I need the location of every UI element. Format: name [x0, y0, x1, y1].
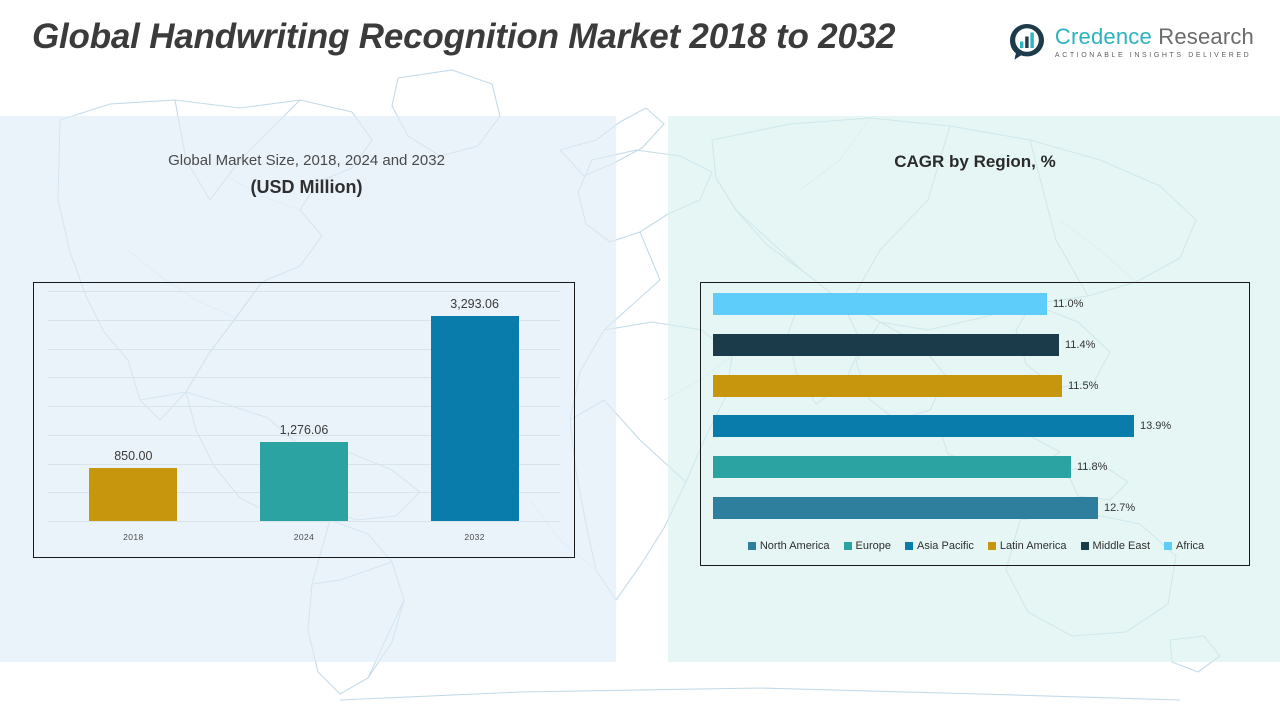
- bar-value-label: 11.8%: [1077, 461, 1107, 473]
- right-chart-heading: CAGR by Region, %: [700, 152, 1250, 172]
- header: Global Handwriting Recognition Market 20…: [0, 0, 1280, 116]
- bar-value-label: 12.7%: [1104, 502, 1135, 514]
- legend-label: Asia Pacific: [917, 540, 974, 552]
- brand-name: Credence Research: [1055, 25, 1254, 48]
- x-axis-tick-label: 2024: [219, 532, 389, 542]
- brand-logo-text: Credence Research Actionable Insights De…: [1055, 25, 1254, 58]
- legend-label: Africa: [1176, 540, 1204, 552]
- bar-row: 11.8%: [713, 456, 1239, 478]
- brand-name-primary: Credence: [1055, 24, 1152, 49]
- left-chart-heading-line1: Global Market Size, 2018, 2024 and 2032: [34, 150, 579, 173]
- bar: [260, 442, 348, 521]
- legend-item[interactable]: Asia Pacific: [905, 540, 974, 552]
- bar-row: 11.5%: [713, 375, 1239, 397]
- legend-swatch-icon: [905, 542, 913, 550]
- legend-label: Europe: [856, 540, 891, 552]
- market-size-x-axis: 201820242032: [48, 525, 560, 549]
- brand-name-secondary: Research: [1152, 24, 1254, 49]
- x-axis-tick-label: 2018: [48, 532, 218, 542]
- bar: [713, 375, 1062, 397]
- bar-value-label: 11.4%: [1065, 339, 1095, 351]
- bar: [713, 456, 1071, 478]
- bar-row: 11.0%: [713, 293, 1239, 315]
- market-size-plot-area: 850.001,276.063,293.06 201820242032: [34, 283, 574, 557]
- legend-swatch-icon: [844, 542, 852, 550]
- bar-group: 3,293.06: [389, 291, 559, 521]
- cagr-by-region-bar-chart: 11.0%11.4%11.5%13.9%11.8%12.7% North Ame…: [700, 282, 1250, 566]
- cagr-bars: 11.0%11.4%11.5%13.9%11.8%12.7%: [713, 293, 1239, 519]
- cagr-legend: North AmericaEuropeAsia PacificLatin Ame…: [713, 535, 1239, 557]
- infographic-page: Global Handwriting Recognition Market 20…: [0, 0, 1280, 720]
- market-size-bar-chart: 850.001,276.063,293.06 201820242032: [33, 282, 575, 558]
- brand-logo[interactable]: Credence Research Actionable Insights De…: [1007, 22, 1254, 62]
- legend-swatch-icon: [988, 542, 996, 550]
- bar-value-label: 13.9%: [1140, 420, 1171, 432]
- bar: [713, 415, 1134, 437]
- legend-item[interactable]: Middle East: [1081, 540, 1150, 552]
- bar: [431, 316, 519, 521]
- bar-row: 11.4%: [713, 334, 1239, 356]
- bar-group: 850.00: [48, 291, 218, 521]
- bar-value-label: 11.5%: [1068, 380, 1098, 392]
- bar: [713, 497, 1098, 519]
- legend-swatch-icon: [748, 542, 756, 550]
- bar-row: 12.7%: [713, 497, 1239, 519]
- bar: [89, 468, 177, 521]
- left-chart-heading-line2: (USD Million): [34, 177, 579, 198]
- x-axis-tick-label: 2032: [389, 532, 559, 542]
- left-chart-heading: Global Market Size, 2018, 2024 and 2032 …: [34, 150, 579, 198]
- bar-value-label: 11.0%: [1053, 298, 1083, 310]
- bar-value-label: 3,293.06: [450, 297, 499, 311]
- market-size-bars: 850.001,276.063,293.06: [48, 291, 560, 521]
- bar-chart-speech-bubble-icon: [1007, 22, 1047, 62]
- bar: [713, 334, 1059, 356]
- legend-label: North America: [760, 540, 830, 552]
- legend-swatch-icon: [1164, 542, 1172, 550]
- bar-value-label: 1,276.06: [280, 423, 329, 437]
- gridline: [48, 521, 560, 522]
- bar: [713, 293, 1047, 315]
- bar-group: 1,276.06: [219, 291, 389, 521]
- right-chart-heading-text: CAGR by Region, %: [700, 152, 1250, 172]
- bar-value-label: 850.00: [114, 449, 152, 463]
- legend-item[interactable]: Latin America: [988, 540, 1067, 552]
- brand-tagline: Actionable Insights Delivered: [1055, 52, 1254, 59]
- bar-row: 13.9%: [713, 415, 1239, 437]
- page-title: Global Handwriting Recognition Market 20…: [32, 16, 992, 59]
- legend-item[interactable]: North America: [748, 540, 830, 552]
- legend-swatch-icon: [1081, 542, 1089, 550]
- legend-item[interactable]: Africa: [1164, 540, 1204, 552]
- legend-label: Latin America: [1000, 540, 1067, 552]
- legend-item[interactable]: Europe: [844, 540, 891, 552]
- legend-label: Middle East: [1093, 540, 1150, 552]
